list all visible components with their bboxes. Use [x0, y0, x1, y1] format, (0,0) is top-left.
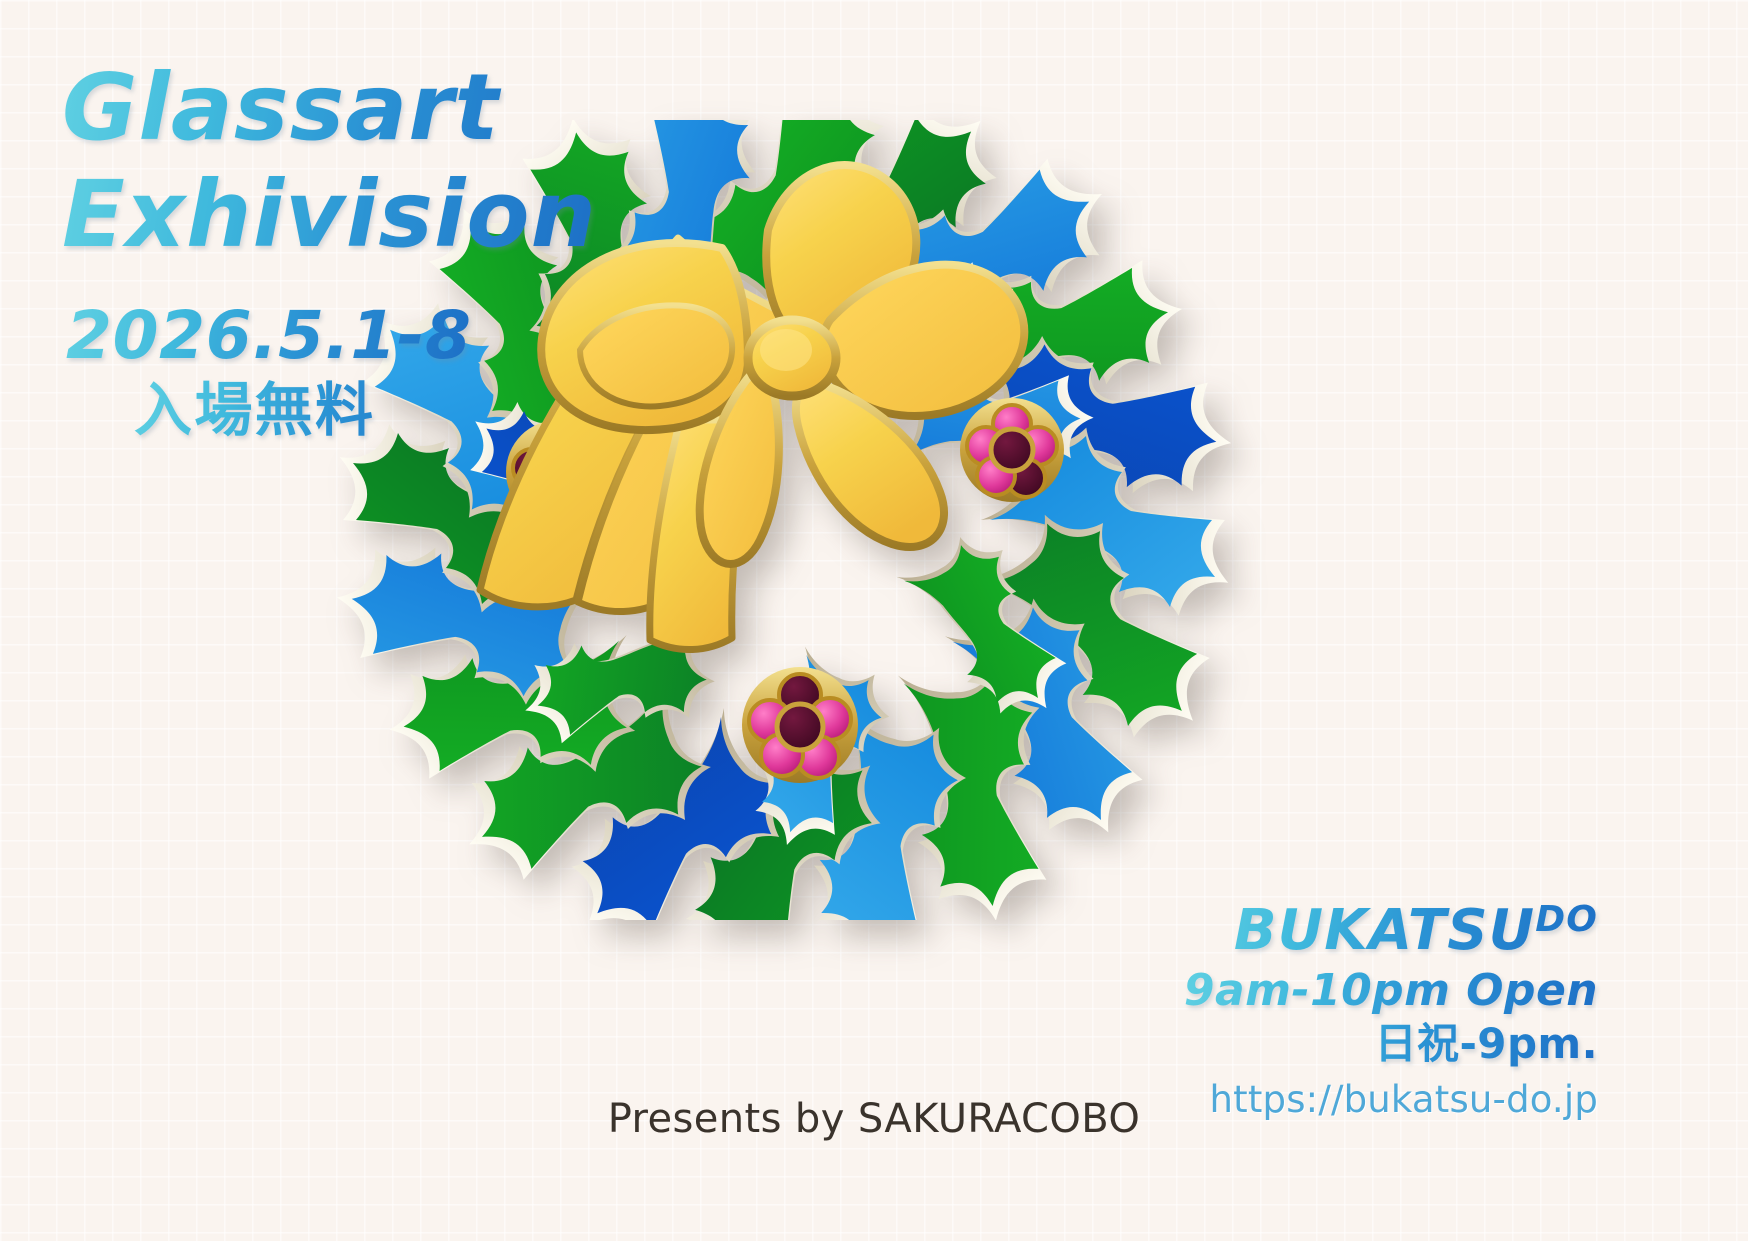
- venue-name-suffix: DO: [1535, 899, 1598, 940]
- berry-cluster-right: [960, 398, 1064, 502]
- venue-name-main: BUKATSU: [1234, 898, 1535, 963]
- admission-wrap: 入場無料: [66, 379, 472, 443]
- opening-hours: 9am-10pm Open: [1184, 965, 1598, 1017]
- berry-cluster-bottom: [742, 667, 858, 783]
- holiday-hours: 日祝-9pm.: [1184, 1019, 1598, 1069]
- title-line1-wrap: Glassart: [62, 58, 597, 157]
- title-line-1: Glassart: [62, 58, 597, 157]
- hours-wrap: 9am-10pm Open: [1184, 965, 1598, 1017]
- holiday-hours-wrap: 日祝-9pm.: [1184, 1019, 1598, 1069]
- title-line-2: Exhivision: [62, 165, 597, 264]
- admission-note: 入場無料: [134, 379, 472, 443]
- date-range-wrap: 2026.5.1-8: [66, 300, 472, 373]
- poster-canvas: Glassart Exhivision 2026.5.1-8 入場無料 BUKA…: [0, 0, 1748, 1241]
- event-date-range: 2026.5.1-8: [66, 300, 472, 373]
- date-block: 2026.5.1-8 入場無料: [66, 300, 472, 442]
- title-block: Glassart Exhivision: [62, 58, 597, 265]
- brand-wrap: BUKATSUDO: [1184, 900, 1598, 963]
- venue-name: BUKATSUDO: [1184, 900, 1598, 963]
- credit-line: Presents by SAKURACOBO: [0, 1096, 1748, 1142]
- title-line2-wrap: Exhivision: [62, 165, 597, 264]
- venue-contact-block: BUKATSUDO 9am-10pm Open 日祝-9pm. https://…: [1184, 900, 1598, 1121]
